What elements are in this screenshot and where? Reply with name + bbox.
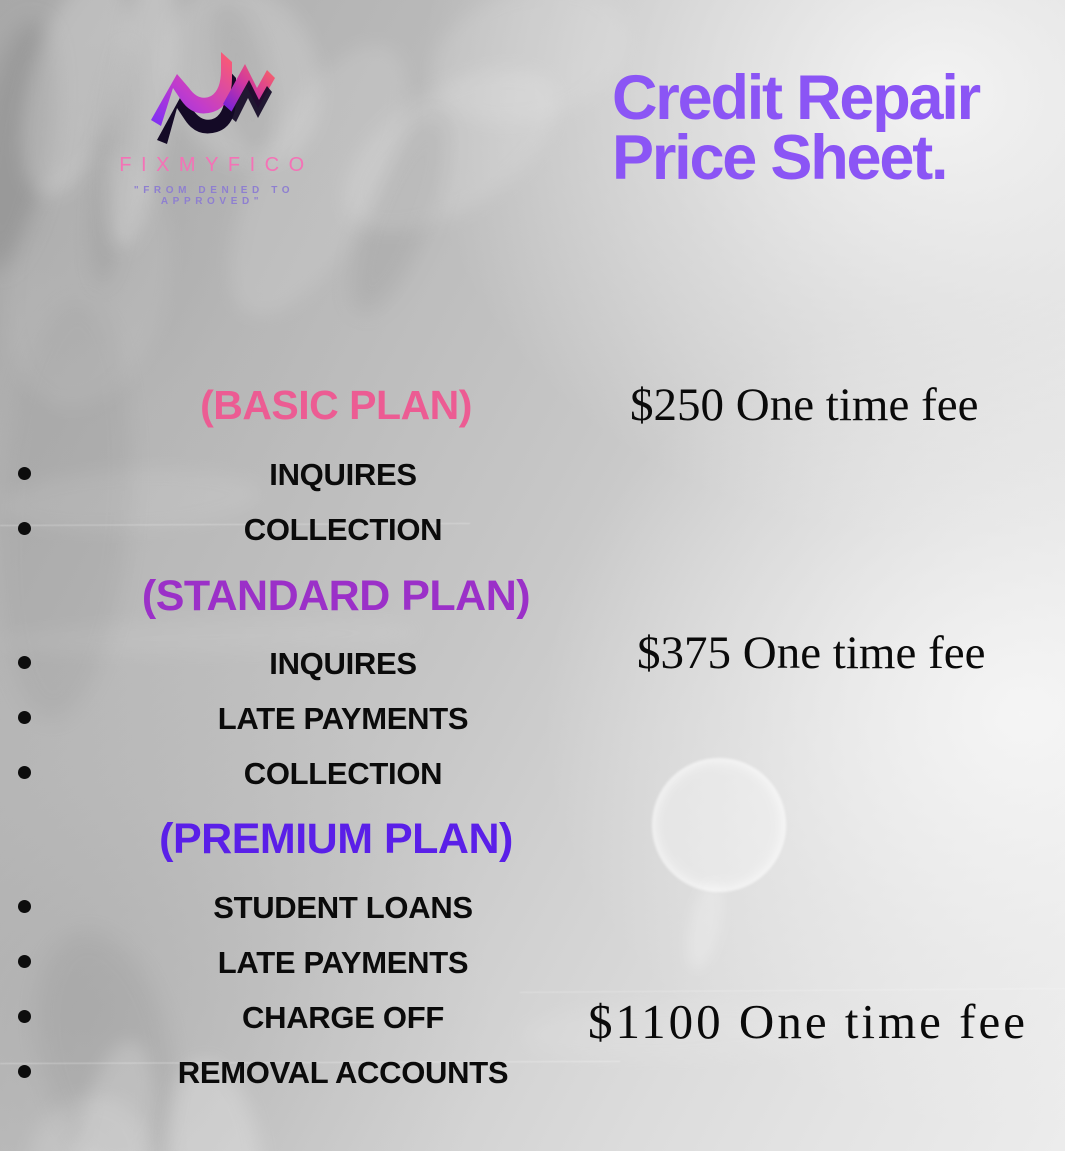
bullet-dot-icon (18, 900, 31, 913)
list-item: COLLECTION (0, 754, 686, 794)
plan-item-label: LATE PAYMENTS (0, 943, 686, 983)
page-title: Credit Repair Price Sheet. (612, 68, 1062, 189)
page-title-line-2: Price Sheet. (612, 128, 1062, 188)
brand-logo: FIXMYFICO "FROM DENIED TO APPROVED" (78, 48, 346, 207)
plan-item-label: STUDENT LOANS (0, 888, 686, 928)
bullet-dot-icon (18, 1010, 31, 1023)
plan-heading-basic: (BASIC PLAN) (0, 382, 672, 429)
bullet-dot-icon (18, 467, 31, 480)
plan-item-label: COLLECTION (0, 510, 686, 550)
list-item: INQUIRES (0, 455, 686, 495)
plan-heading-standard: (STANDARD PLAN) (0, 572, 672, 621)
plan-price-premium: $1100 One time fee (588, 993, 1028, 1050)
bullet-dot-icon (18, 955, 31, 968)
plan-item-label: INQUIRES (0, 455, 686, 495)
list-item: REMOVAL ACCOUNTS (0, 1053, 686, 1093)
list-item: INQUIRES (0, 644, 686, 684)
plan-item-label: COLLECTION (0, 754, 686, 794)
price-sheet-poster: FIXMYFICO "FROM DENIED TO APPROVED" Cred… (0, 0, 1065, 1151)
bullet-dot-icon (18, 656, 31, 669)
list-item: LATE PAYMENTS (0, 943, 686, 983)
plan-price-basic: $250 One time fee (630, 378, 978, 432)
brand-name: FIXMYFICO (78, 154, 346, 176)
bullet-dot-icon (18, 766, 31, 779)
plan-heading-premium: (PREMIUM PLAN) (0, 815, 672, 864)
bullet-dot-icon (18, 522, 31, 535)
list-item: STUDENT LOANS (0, 888, 686, 928)
list-item: LATE PAYMENTS (0, 699, 686, 739)
plan-item-label: REMOVAL ACCOUNTS (0, 1053, 686, 1093)
bullet-dot-icon (18, 711, 31, 724)
bullet-dot-icon (18, 1065, 31, 1078)
plan-item-label: LATE PAYMENTS (0, 699, 686, 739)
plan-price-standard: $375 One time fee (637, 626, 985, 680)
list-item: COLLECTION (0, 510, 686, 550)
plan-item-label: CHARGE OFF (0, 998, 686, 1038)
plan-item-label: INQUIRES (0, 644, 686, 684)
zigzag-chart-ribbon-logo-icon (137, 48, 287, 148)
list-item: CHARGE OFF (0, 998, 686, 1038)
brand-tagline: "FROM DENIED TO APPROVED" (78, 185, 346, 207)
